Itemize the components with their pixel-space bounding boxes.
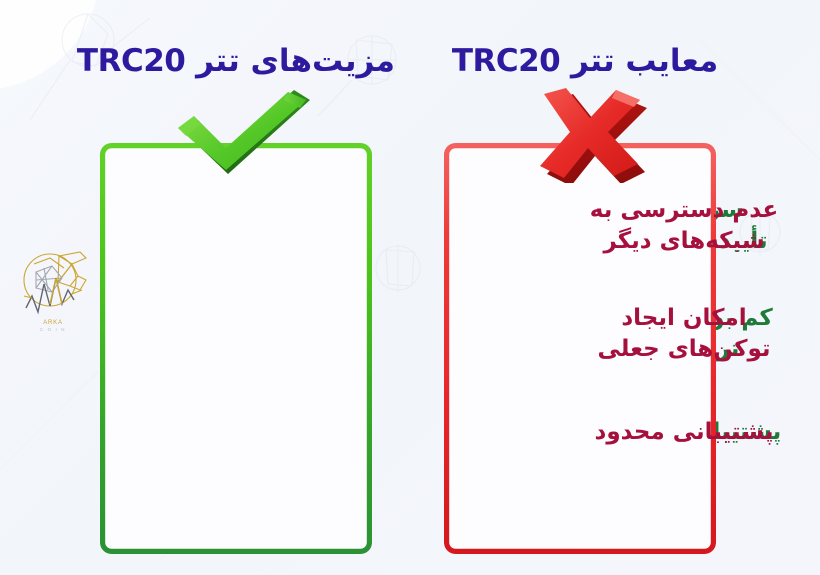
column-title-advantages: مزیت‌های تتر TRC20 — [115, 44, 395, 78]
advantages-card — [100, 143, 372, 554]
logo-brand-name: ARKA — [43, 320, 63, 326]
arka-coin-logo: ARKA C O I N — [12, 238, 94, 334]
column-title-drawbacks: معایب تتر TRC20 — [445, 44, 725, 78]
infographic-canvas: مزیت‌های تتر TRC20 معایب تتر TRC20 سرعت … — [0, 0, 820, 575]
drawbacks-card-content: عدم دسترسی به شبکه‌های دیگر امکان ایجاد … — [548, 143, 820, 554]
check-mark-icon — [168, 88, 318, 180]
logo-brand-sub: C O I N — [40, 327, 66, 332]
cross-mark-icon — [522, 88, 662, 183]
drawback-item-1: عدم دسترسی به شبکه‌های دیگر — [590, 195, 778, 257]
drawback-item-2: امکان ایجاد توکن‌های جعلی — [597, 303, 770, 365]
drawback-item-3: پشتیبانی محدود — [595, 417, 774, 448]
